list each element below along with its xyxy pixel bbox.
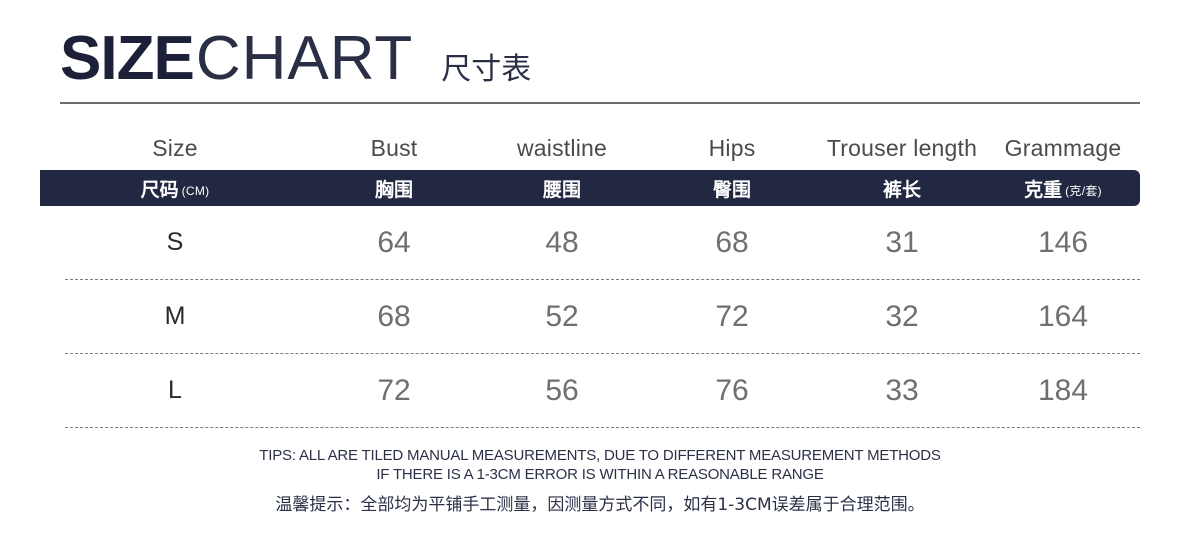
cell-bust: 72 (310, 374, 478, 408)
cell-grammage: 164 (986, 300, 1140, 334)
cell-waistline: 56 (478, 374, 646, 408)
cell-grammage: 184 (986, 374, 1140, 408)
table-row: L 72 56 76 33 184 (0, 354, 1200, 427)
column-header-trouser-length-cn: 裤长 (818, 175, 986, 202)
cell-bust: 64 (310, 226, 478, 260)
title-chinese: 尺寸表 (441, 55, 531, 85)
column-header-size-cn: 尺码(CM) (40, 175, 310, 202)
table-row: M 68 52 72 32 164 (0, 280, 1200, 353)
footer-tips: TIPS: ALL ARE TILED MANUAL MEASUREMENTS,… (0, 446, 1200, 517)
table-row: S 64 48 68 31 146 (0, 206, 1200, 279)
column-header-size-cn-unit: (CM) (182, 184, 210, 198)
size-chart-page: SIZE CHART 尺寸表 Size Bust waistline Hips … (0, 0, 1200, 553)
title-size-word: SIZE (60, 28, 194, 90)
column-header-size-cn-text: 尺码 (141, 179, 179, 201)
table-header-english: Size Bust waistline Hips Trouser length … (0, 126, 1200, 170)
column-header-trouser-length-en: Trouser length (818, 135, 986, 162)
cell-hips: 72 (646, 300, 818, 334)
cell-bust: 68 (310, 300, 478, 334)
column-header-bust-en: Bust (310, 135, 478, 162)
cell-trouser-length: 32 (818, 300, 986, 334)
column-header-size-en: Size (40, 135, 310, 162)
title-divider (60, 102, 1140, 104)
column-header-grammage-en: Grammage (986, 135, 1140, 162)
column-header-hips-cn: 臀围 (646, 175, 818, 202)
cell-grammage: 146 (986, 226, 1140, 260)
cell-hips: 68 (646, 226, 818, 260)
cell-waistline: 52 (478, 300, 646, 334)
cell-size: L (40, 376, 310, 405)
title-chart-word: CHART (196, 28, 413, 90)
cell-waistline: 48 (478, 226, 646, 260)
table-header-chinese: 尺码(CM) 胸围 腰围 臀围 裤长 克重(克/套) (0, 170, 1200, 206)
cell-trouser-length: 33 (818, 374, 986, 408)
column-header-hips-en: Hips (646, 135, 818, 162)
page-title: SIZE CHART 尺寸表 (60, 28, 531, 90)
row-divider (65, 427, 1140, 428)
cell-hips: 76 (646, 374, 818, 408)
tip-chinese: 温馨提示：全部均为平铺手工测量，因测量方式不同，如有1-3CM误差属于合理范围。 (0, 493, 1200, 517)
column-header-bust-cn: 胸围 (310, 175, 478, 202)
cell-size: S (40, 228, 310, 257)
tip-english-line2: IF THERE IS A 1-3CM ERROR IS WITHIN A RE… (0, 465, 1200, 484)
column-header-waistline-cn: 腰围 (478, 175, 646, 202)
cell-size: M (40, 302, 310, 331)
column-header-waistline-en: waistline (478, 135, 646, 162)
column-header-grammage-cn: 克重(克/套) (986, 175, 1140, 202)
column-header-grammage-cn-unit: (克/套) (1065, 184, 1102, 198)
column-header-grammage-cn-text: 克重 (1024, 179, 1062, 201)
cell-trouser-length: 31 (818, 226, 986, 260)
tip-english-line1: TIPS: ALL ARE TILED MANUAL MEASUREMENTS,… (0, 446, 1200, 465)
size-table: Size Bust waistline Hips Trouser length … (0, 126, 1200, 428)
